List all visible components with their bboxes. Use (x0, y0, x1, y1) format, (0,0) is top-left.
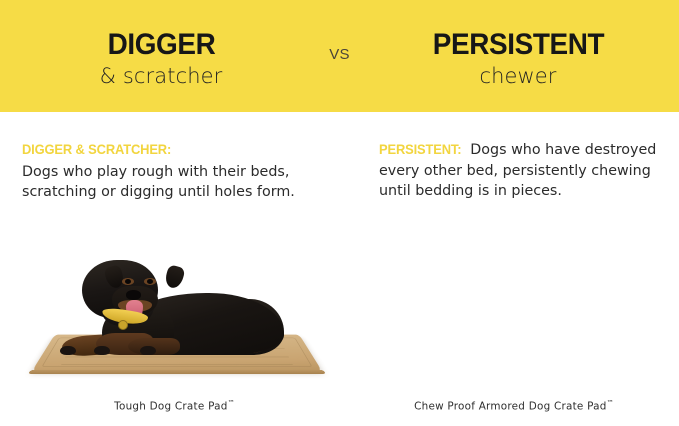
collar-tag-left (118, 320, 128, 330)
comparison-infographic: DIGGER & scratcher VS PERSISTENT chewer … (0, 0, 679, 426)
caption-left-text: Tough Dog Crate Pad (114, 400, 227, 412)
column-digger-scratcher: DIGGER & SCRATCHER:Dogs who play rough w… (0, 112, 349, 426)
product-image-tough-pad (18, 238, 336, 383)
rottweiler-dog (54, 260, 284, 355)
pad-edge-trim (28, 370, 326, 374)
banner-column-left: DIGGER & scratcher (19, 29, 304, 90)
body-copy-left: Dogs who play rough with their beds, scr… (22, 164, 295, 201)
caption-right-text: Chew Proof Armored Dog Crate Pad (414, 400, 607, 412)
banner-subtitle-right: chewer (376, 63, 661, 89)
banner-title-right: PERSISTENT (385, 29, 650, 61)
banner-inner: DIGGER & scratcher VS PERSISTENT chewer (0, 23, 679, 90)
description-right: PERSISTENT: Dogs who have destroyed ever… (379, 140, 679, 202)
description-left: DIGGER & SCRATCHER:Dogs who play rough w… (22, 140, 322, 203)
caption-right: Chew Proof Armored Dog Crate Pad™ (349, 399, 679, 412)
trademark-symbol-left: ™ (228, 399, 235, 407)
banner-subtitle-left: & scratcher (19, 63, 304, 89)
trademark-symbol-right: ™ (607, 399, 614, 407)
lede-label-right: PERSISTENT: (379, 140, 461, 161)
banner-title-left: DIGGER (28, 29, 293, 61)
versus-label: VS (304, 29, 376, 63)
banner-column-right: PERSISTENT chewer (376, 29, 661, 90)
column-persistent-chewer: PERSISTENT: Dogs who have destroyed ever… (349, 112, 679, 426)
caption-left: Tough Dog Crate Pad™ (0, 399, 349, 412)
header-banner: DIGGER & scratcher VS PERSISTENT chewer (0, 0, 679, 112)
content-columns: DIGGER & SCRATCHER:Dogs who play rough w… (0, 112, 679, 426)
lede-label-left: DIGGER & SCRATCHER: (22, 140, 307, 161)
